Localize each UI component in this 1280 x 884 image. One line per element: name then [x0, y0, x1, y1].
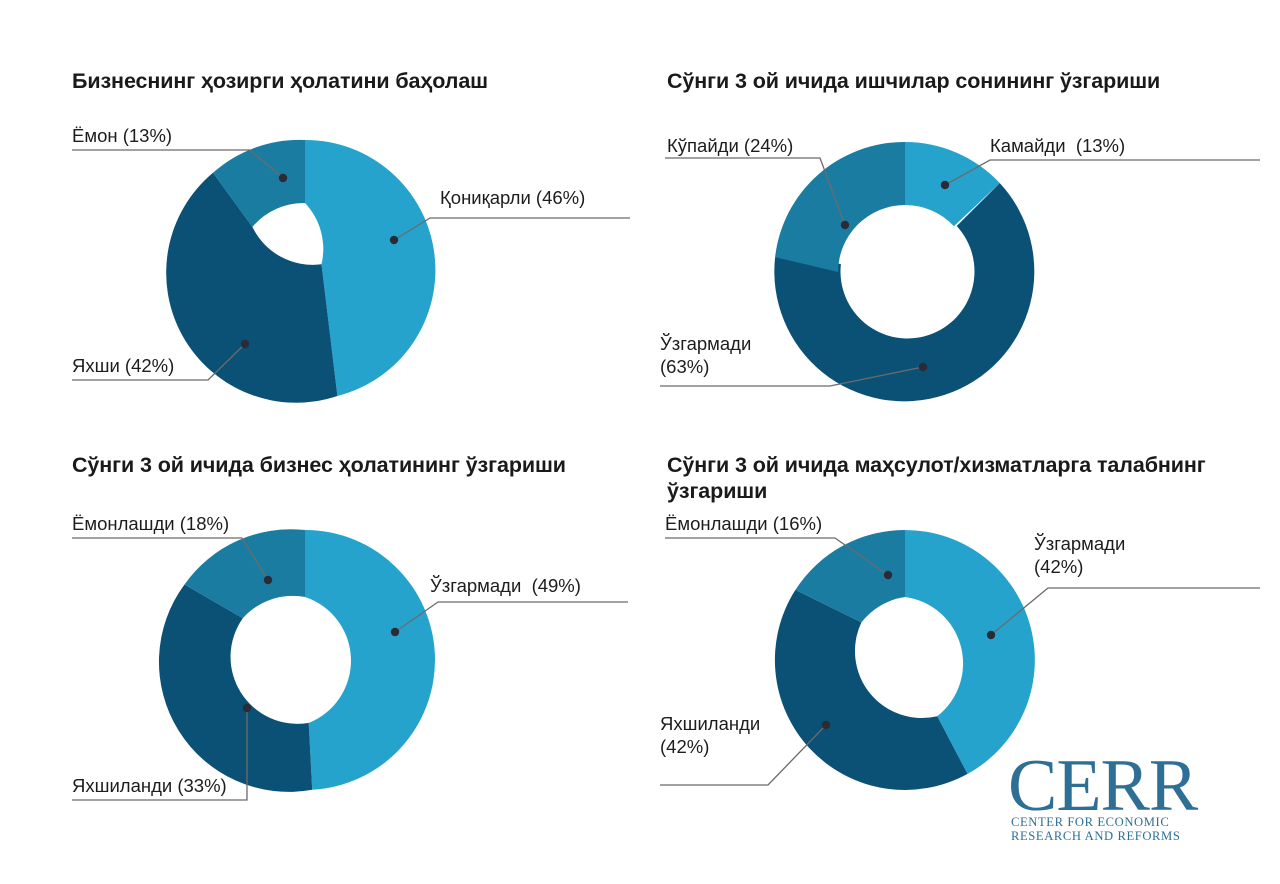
cerr-logo-mark: CERR CENTER FOR ECONOMIC RESEARCH AND RE… — [1006, 748, 1236, 846]
leader-dot-yomonlashdi3 — [264, 576, 272, 584]
leader-dot-uzgarmadi3 — [391, 628, 399, 636]
leader-dot-yomonlashdi4 — [884, 571, 892, 579]
callout-label-uzgarmadi3: Ўзгармади (49%) — [430, 574, 581, 597]
callout-label-qoniqarli: Қониқарли (46%) — [440, 186, 585, 209]
callout-label-yomon: Ёмон (13%) — [72, 124, 172, 147]
leader-dot-yaxshi — [241, 340, 249, 348]
infographic-canvas: Бизнеснинг ҳозирги ҳолатини баҳолаш Ёмон… — [0, 0, 1280, 884]
callout-label-yaxshi: Яхши (42%) — [72, 354, 174, 377]
leader-dot-yaxshilandi4 — [822, 721, 830, 729]
leader-dot-yomon — [279, 174, 287, 182]
donut-chart-business-state-change — [0, 440, 640, 884]
donut-slice-yaxshilandi3[interactable] — [159, 585, 312, 792]
callout-label-yaxshilandi3: Яхшиланди (33%) — [72, 774, 227, 797]
leader-dot-yaxshilandi3 — [243, 704, 251, 712]
leader-dot-kamaydi — [941, 181, 949, 189]
leader-line-uzgarmadi4 — [991, 588, 1260, 635]
leader-dot-qoniqarli — [390, 236, 398, 244]
donut-slice-kupaydi[interactable] — [775, 142, 905, 272]
donut-slice-yaxshilandi4[interactable] — [775, 590, 968, 790]
callout-label-uzgarmadi4: Ўзгармади (42%) — [1034, 532, 1125, 578]
chart-panel-business-current-state: Бизнеснинг ҳозирги ҳолатини баҳолаш Ёмон… — [0, 0, 640, 440]
leader-dot-kupaydi — [841, 221, 849, 229]
chart-panel-business-state-change: Сўнги 3 ой ичида бизнес ҳолатининг ўзгар… — [0, 440, 640, 884]
callout-label-yomonlashdi4: Ёмонлашди (16%) — [665, 512, 822, 535]
callout-label-kupaydi: Кўпайди (24%) — [667, 134, 793, 157]
cerr-tagline-line-2: RESEARCH AND REFORMS — [1011, 829, 1180, 843]
leader-dot-uzgarmadi4 — [987, 631, 995, 639]
leader-dot-uzgarmadi — [919, 363, 927, 371]
callout-label-kamaydi: Камайди (13%) — [990, 134, 1125, 157]
chart-panel-employee-count-change: Сўнги 3 ой ичида ишчилар сонининг ўзгари… — [640, 0, 1280, 440]
callout-label-yomonlashdi3: Ёмонлашди (18%) — [72, 512, 229, 535]
cerr-tagline-line-1: CENTER FOR ECONOMIC — [1011, 815, 1169, 829]
callout-label-uzgarmadi: Ўзгармади (63%) — [660, 332, 751, 378]
donut-slice-uzgarmadi3[interactable] — [305, 530, 435, 790]
cerr-logo: CERR CENTER FOR ECONOMIC RESEARCH AND RE… — [1006, 748, 1236, 846]
callout-label-yaxshilandi4: Яхшиланди (42%) — [660, 712, 760, 758]
